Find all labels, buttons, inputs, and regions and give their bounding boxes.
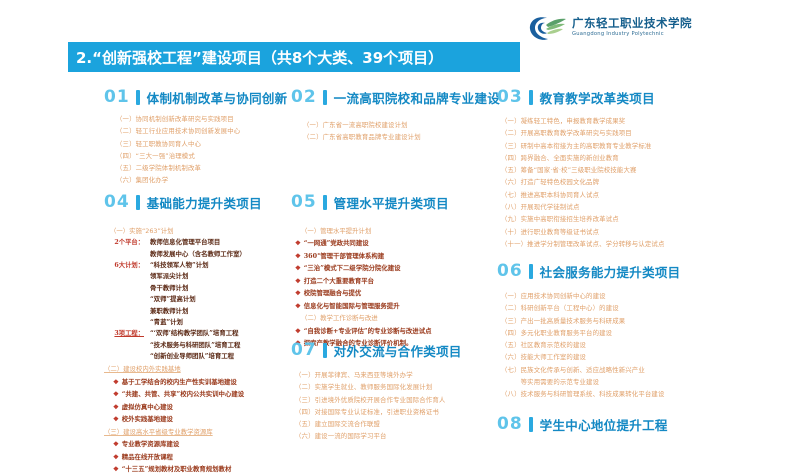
list-item: （八）技术服务与科研管理系统、科技成果转化平台建设 (501, 388, 680, 400)
section-03: 03 教育教学改革类项目 （一）凝练轻工特色，申报教育教学成果奖 （二）开展高职… (497, 88, 665, 250)
bullet-text: “自我诊断+专业评估”的专业诊断与改进试点 (304, 327, 432, 335)
bullet-item: ❖打造二个大重要教育平台 (295, 275, 449, 287)
section-07-items: （一）开展菲律宾、马来西亚等境外办学 （二）实施学生就业、教师服务国际化发展计划… (291, 369, 462, 443)
bullet-text: “共建、共管、共享”校内公共实训中心建设 (122, 390, 244, 398)
list-item: （四）“三大一强”治理模式 (116, 150, 287, 162)
list-item: （五）筹备“国家·省·校”三级职业院校技能大赛 (501, 164, 665, 176)
section-04-group-1: （一）实施“263”计划 2个平台： 教师信息化管理平台项目 教师发展中心（含名… (104, 225, 262, 362)
plan-value: “创新创业导师团队”培育工程 (150, 351, 240, 362)
bullet-text: 校外实践基地建设 (122, 415, 173, 423)
section-title: 对外交流与合作类项目 (334, 341, 462, 360)
bullet-item: ❖“三治”模式下二级学院分院化建设 (295, 262, 449, 274)
plan-value: “‘双师’结构教学团队”培育工程 (150, 328, 240, 339)
list-item: （十一）推进学分制管理改革试点、学分转移与认定试点 (501, 238, 665, 250)
section-04-header: 04 基础能力提升类项目 (104, 193, 262, 211)
section-title: 管理水平提升类项目 (334, 193, 449, 212)
bullet-text: 打造二个大重要教育平台 (304, 277, 374, 285)
section-title: 体制机制改革与协同创新 (147, 88, 288, 107)
section-accent-bar (323, 195, 327, 210)
section-06-header: 06 社会服务能力提升类项目 (497, 262, 680, 280)
list-item: （八）开展现代学徒制试点 (501, 201, 665, 213)
section-01-items: （一）协同机制创新改革研究与实践项目 （二）轻工行业应用技术协同创新发展中心 （… (104, 113, 287, 187)
bullet-item: ❖校外实践基地建设 (113, 413, 262, 425)
section-05: 05 管理水平提升类项目 （一）管理水平提升计划 ❖“一网通”党政共同建设 ❖3… (291, 193, 449, 350)
section-03-header: 03 教育教学改革类项目 (497, 88, 665, 106)
section-06-items: （一）应用技术协同创新中心的建设 （二）科研创新平台（工程中心）的建设 （三）产… (497, 290, 680, 401)
list-item: （六）集团化办学 (116, 174, 287, 186)
diamond-bullet-icon: ❖ (113, 403, 119, 411)
list-item: （五）建立国际交流合作联盟 (295, 418, 462, 430)
diamond-bullet-icon: ❖ (113, 453, 119, 461)
bullet-text: 虚拟仿真中心建设 (122, 403, 173, 411)
section-04-body: （一）实施“263”计划 2个平台： 教师信息化管理平台项目 教师发展中心（含名… (104, 225, 262, 476)
list-item-continuation: 等实用需要的示范专业建设 (501, 376, 680, 388)
bullet-item: ❖基于工学结合的校内生产性实训基地建设 (113, 376, 262, 388)
plan-row: 6大计划： “科技领军人物”计划 领军派尖计划 骨干教师计划 “双师”提高计划 … (104, 260, 262, 328)
list-item: （五）社区教育示范校的建设 (501, 339, 680, 351)
diamond-bullet-icon: ❖ (295, 252, 301, 260)
bullet-item: ❖校院管理融合与提优 (295, 287, 449, 299)
section-accent-bar (136, 195, 140, 210)
plan-value: 教师发展中心（含名教师工作室） (150, 249, 246, 260)
list-item: （三）轻工职教协同育人中心 (116, 138, 287, 150)
list-item: （一）凝练轻工特色，申报教育教学成果奖 (501, 115, 665, 127)
group-heading: （二）建设校内外实践基地 (104, 363, 262, 375)
logo-name-en: Guangdong Industry Polytechnic (572, 32, 692, 37)
section-title: 基础能力提升类项目 (147, 193, 262, 212)
diamond-bullet-icon: ❖ (113, 415, 119, 423)
section-number: 05 (291, 194, 317, 211)
list-item: （三）产出一批高质量技术服务与科研成果 (501, 315, 680, 327)
section-title: 一流高职院校和品牌专业建设 (334, 88, 500, 107)
section-02-header: 02 一流高职院校和品牌专业建设 (291, 88, 500, 106)
logo-name-cn: 广东轻工职业技术学院 (572, 18, 692, 30)
section-08: 08 学生中心地位提升工程 (497, 415, 668, 433)
section-07: 07 对外交流与合作类项目 （一）开展菲律宾、马来西亚等境外办学 （二）实施学生… (291, 341, 462, 443)
list-item: （一）开展菲律宾、马来西亚等境外办学 (295, 369, 462, 381)
plan-value: “科技领军人物”计划 (150, 260, 208, 271)
section-05-body: （一）管理水平提升计划 ❖“一网通”党政共同建设 ❖360°管理干部管理体系构建… (291, 225, 449, 350)
list-item: （二）轻工行业应用技术协同创新发展中心 (116, 125, 287, 137)
section-07-header: 07 对外交流与合作类项目 (291, 341, 462, 359)
list-item: （六）建设一流的国际学习平台 (295, 430, 462, 442)
list-item: （七）推进高职本科协同育人试点 (501, 189, 665, 201)
diamond-bullet-icon: ❖ (295, 289, 301, 297)
plan-row-values: “‘双师’结构教学团队”培育工程 “技术服务与科研团队”培育工程 “创新创业导师… (144, 328, 240, 362)
bullet-text: “一网通”党政共同建设 (304, 239, 369, 247)
plan-value: 教师信息化管理平台项目 (150, 237, 246, 248)
university-logo: 广东轻工职业技术学院 Guangdong Industry Polytechni… (528, 14, 692, 42)
diamond-bullet-icon: ❖ (113, 465, 119, 473)
list-item: （六）技能大师工作室的建设 (501, 351, 680, 363)
section-title: 教育教学改革类项目 (540, 88, 655, 107)
plan-value: 领军派尖计划 (150, 271, 208, 282)
section-accent-bar (529, 417, 533, 432)
group-heading: （三）建设高水平省级专业教学资源库 (104, 426, 262, 438)
plan-row-key: 2个平台： (104, 237, 144, 248)
plan-row: 2个平台： 教师信息化管理平台项目 教师发展中心（含名教师工作室） (104, 237, 262, 260)
bullet-text: 信息化与智能国际与管理服务提升 (304, 302, 400, 310)
bullet-item: ❖专业教学资源库建设 (113, 438, 262, 450)
plan-row-values: “科技领军人物”计划 领军派尖计划 骨干教师计划 “双师”提高计划 兼职教师计划… (144, 260, 208, 328)
list-item: （五）二级学院体制机制改革 (116, 162, 287, 174)
plan-row-key: 6大计划： (104, 260, 144, 271)
list-item: （一）协同机制创新改革研究与实践项目 (116, 113, 287, 125)
section-04: 04 基础能力提升类项目 （一）实施“263”计划 2个平台： 教师信息化管理平… (104, 193, 262, 476)
section-number: 07 (291, 342, 317, 359)
bullet-text: 校院管理融合与提优 (304, 289, 362, 297)
bullet-item: ❖信息化与智能国际与管理服务提升 (295, 300, 449, 312)
diamond-bullet-icon: ❖ (295, 277, 301, 285)
bullet-item: ❖“十三五”规划教材及职业教育规划教材 (113, 463, 262, 475)
section-01-header: 01 体制机制改革与协同创新 (104, 88, 287, 106)
logo-text: 广东轻工职业技术学院 Guangdong Industry Polytechni… (572, 18, 692, 37)
list-item: （一）广东省一流高职院校建设计划 (303, 119, 500, 131)
section-number: 03 (497, 89, 523, 106)
list-item: （二）科研创新平台（工程中心）的建设 (501, 302, 680, 314)
section-accent-bar (529, 264, 533, 279)
bullet-item: ❖“共建、共管、共享”校内公共实训中心建设 (113, 388, 262, 400)
section-06: 06 社会服务能力提升类项目 （一）应用技术协同创新中心的建设 （二）科研创新平… (497, 262, 680, 401)
plan-row-key: 3项工程： (104, 328, 144, 339)
section-01: 01 体制机制改革与协同创新 （一）协同机制创新改革研究与实践项目 （二）轻工行… (104, 88, 287, 187)
plan-value: “双师”提高计划 (150, 294, 208, 305)
list-item: （七）民族文化传承与创新、适应战略性新兴产业 (501, 364, 680, 376)
list-item: （十）进行职业教育等级证书试点 (501, 226, 665, 238)
slide: 广东轻工职业技术学院 Guangdong Industry Polytechni… (0, 0, 800, 450)
group-heading: （一）实施“263”计划 (104, 225, 262, 237)
list-item: （三）研制中高本衔接为主的高职教育专业教学标准 (501, 140, 665, 152)
section-04-group-2: （二）建设校内外实践基地 ❖基于工学结合的校内生产性实训基地建设 ❖“共建、共管… (104, 363, 262, 425)
section-number: 01 (104, 89, 130, 106)
logo-emblem-icon (528, 14, 568, 42)
list-item: （九）实施中高职衔接招生培养改革试点 (501, 213, 665, 225)
section-02-items: （一）广东省一流高职院校建设计划 （二）广东省高职教育品牌专业建设计划 (291, 119, 500, 144)
plan-row-values: 教师信息化管理平台项目 教师发展中心（含名教师工作室） (144, 237, 246, 260)
section-accent-bar (529, 90, 533, 105)
bullet-item: ❖360°管理干部管理体系构建 (295, 250, 449, 262)
diamond-bullet-icon: ❖ (113, 440, 119, 448)
section-number: 02 (291, 89, 317, 106)
list-item: （二）实施学生就业、教师服务国际化发展计划 (295, 381, 462, 393)
plan-value: 骨干教师计划 (150, 283, 208, 294)
bullet-item: ❖虚拟仿真中心建设 (113, 401, 262, 413)
group-bullets: ❖专业教学资源库建设 ❖精品在线开放课程 ❖“十三五”规划教材及职业教育规划教材 (104, 438, 262, 475)
diamond-bullet-icon: ❖ (295, 264, 301, 272)
list-item: （二）开展高职教育教学改革研究与实践项目 (501, 127, 665, 139)
bullet-text: “十三五”规划教材及职业教育规划教材 (122, 465, 232, 473)
section-title: 社会服务能力提升类项目 (540, 262, 681, 281)
list-item: （三）引进境外优质院校开展合作专业国际合作育人 (295, 394, 462, 406)
section-number: 06 (497, 263, 523, 280)
plan-value: 兼职教师计划 (150, 306, 208, 317)
section-08-header: 08 学生中心地位提升工程 (497, 415, 668, 433)
section-accent-bar (323, 90, 327, 105)
list-item: （四）多元化职业教育服务平台的建设 (501, 327, 680, 339)
bullet-text: 专业教学资源库建设 (122, 440, 180, 448)
plan-value: “青蓝”计划 (150, 317, 208, 328)
bullet-item: ❖“自我诊断+专业评估”的专业诊断与改进试点 (295, 325, 449, 337)
group-bullets: ❖基于工学结合的校内生产性实训基地建设 ❖“共建、共管、共享”校内公共实训中心建… (104, 376, 262, 426)
section-05-group-1: （一）管理水平提升计划 ❖“一网通”党政共同建设 ❖360°管理干部管理体系构建… (295, 225, 449, 312)
slide-title-bar: 2.“创新强校工程”建设项目（共8个大类、39个项目） (68, 42, 520, 72)
section-02: 02 一流高职院校和品牌专业建设 （一）广东省一流高职院校建设计划 （二）广东省… (291, 88, 500, 144)
section-05-header: 05 管理水平提升类项目 (291, 193, 449, 211)
section-04-group-3: （三）建设高水平省级专业教学资源库 ❖专业教学资源库建设 ❖精品在线开放课程 ❖… (104, 426, 262, 476)
bullet-item: ❖“一网通”党政共同建设 (295, 237, 449, 249)
section-accent-bar (323, 343, 327, 358)
section-title: 学生中心地位提升工程 (540, 415, 668, 434)
section-03-items: （一）凝练轻工特色，申报教育教学成果奖 （二）开展高职教育教学改革研究与实践项目… (497, 115, 665, 250)
bullet-text: 360°管理干部管理体系构建 (304, 252, 384, 260)
list-item: （四）跨界融合、全面实施的新创业教育 (501, 152, 665, 164)
bullet-text: “三治”模式下二级学院分院化建设 (304, 264, 401, 272)
diamond-bullet-icon: ❖ (113, 378, 119, 386)
list-item: （二）广东省高职教育品牌专业建设计划 (303, 131, 500, 143)
diamond-bullet-icon: ❖ (295, 239, 301, 247)
group-bullets: ❖“一网通”党政共同建设 ❖360°管理干部管理体系构建 ❖“三治”模式下二级学… (295, 237, 449, 312)
bullet-item: ❖精品在线开放课程 (113, 451, 262, 463)
section-number: 04 (104, 194, 130, 211)
page-title: 2.“创新强校工程”建设项目（共8个大类、39个项目） (68, 47, 443, 68)
list-item: （六）打造广轻特色校园文化品牌 (501, 176, 665, 188)
diamond-bullet-icon: ❖ (295, 302, 301, 310)
section-number: 08 (497, 416, 523, 433)
diamond-bullet-icon: ❖ (113, 390, 119, 398)
group-heading: （二）教学工作诊断与改进 (295, 312, 449, 324)
bullet-text: 精品在线开放课程 (122, 453, 173, 461)
plan-row: 3项工程： “‘双师’结构教学团队”培育工程 “技术服务与科研团队”培育工程 “… (104, 328, 262, 362)
plan-value: “技术服务与科研团队”培育工程 (150, 340, 240, 351)
diamond-bullet-icon: ❖ (295, 327, 301, 335)
list-item: （一）应用技术协同创新中心的建设 (501, 290, 680, 302)
group-heading: （一）管理水平提升计划 (295, 225, 449, 237)
list-item: （四）对接国际专业认证标准，引进职业资格证书 (295, 406, 462, 418)
section-accent-bar (136, 90, 140, 105)
bullet-text: 基于工学结合的校内生产性实训基地建设 (122, 378, 237, 386)
